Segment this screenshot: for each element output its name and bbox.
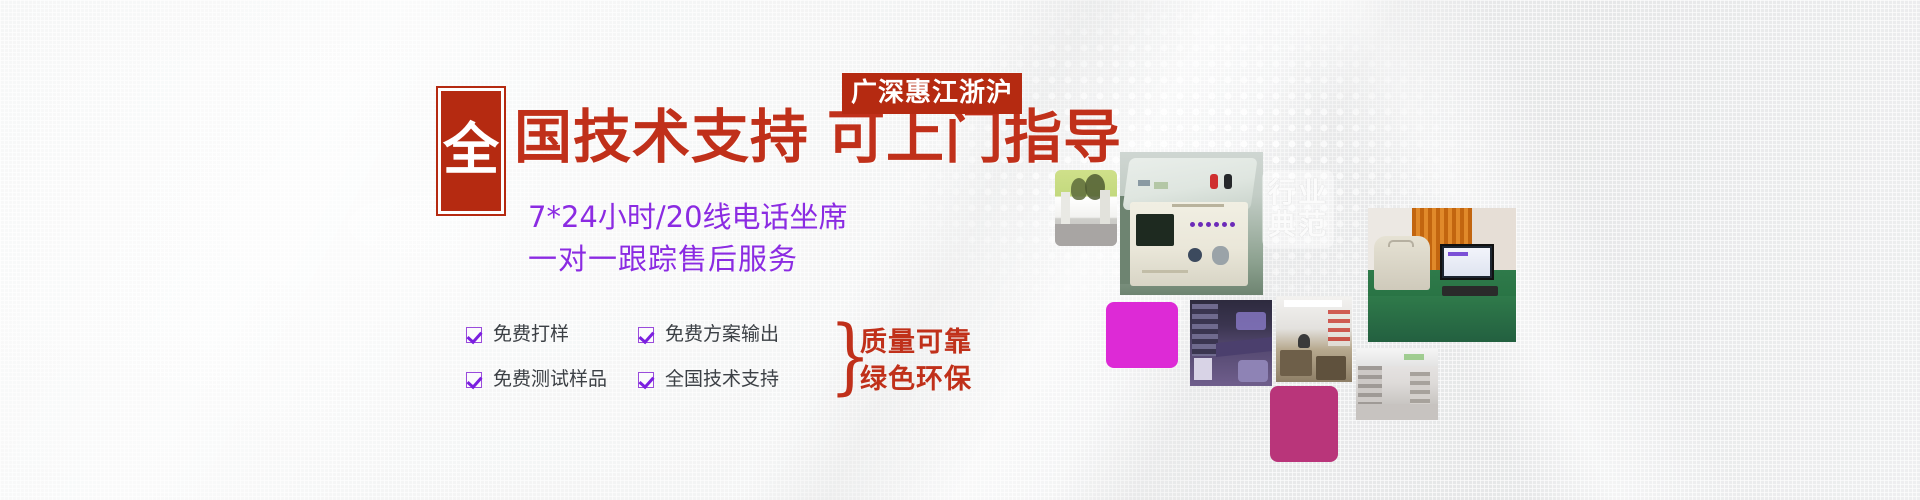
slogan-line-2: 绿色环保 <box>860 361 972 398</box>
feature-item-3-label: 免费测试样品 <box>493 370 607 389</box>
headline-text: 国技术支持可上门指导 <box>514 108 1122 166</box>
feature-item-2: 免费方案输出 <box>638 325 818 344</box>
feature-item-2-label: 免费方案输出 <box>665 325 779 344</box>
feature-item-4-label: 全国技术支持 <box>665 370 779 389</box>
office-interior-photo <box>1276 296 1352 382</box>
feature-item-1: 免费打样 <box>466 325 638 344</box>
test-instrument-photo <box>1120 152 1263 295</box>
checkmark-icon <box>638 372 654 388</box>
slogan-line-1: 质量可靠 <box>860 324 972 361</box>
region-tag-badge: 广深惠江浙沪 <box>842 73 1022 114</box>
watermark-line-2: 典范 <box>1268 209 1328 241</box>
feature-item-3: 免费测试样品 <box>466 370 638 389</box>
headline-badge-box: 全 <box>438 88 504 214</box>
industry-model-watermark: 行业 典范 <box>1262 170 1334 248</box>
feature-checklist: 免费打样 免费方案输出 免费测试样品 全国技术支持 <box>466 325 818 389</box>
subtitle-line-1: 7*24小时/20线电话坐席 <box>528 196 848 238</box>
magenta-block-1 <box>1106 302 1178 368</box>
headline-badge-char: 全 <box>443 123 499 179</box>
watermark-line-1: 行业 <box>1268 177 1328 209</box>
slogan-block: 质量可靠 绿色环保 <box>860 324 972 398</box>
checkmark-icon <box>466 327 482 343</box>
subtitle-line-2: 一对一跟踪售后服务 <box>528 238 848 280</box>
headline-text-part1: 国技术支持 <box>514 103 809 171</box>
checkmark-icon <box>466 372 482 388</box>
magenta-block-2 <box>1270 386 1338 462</box>
laboratory-bench-photo <box>1190 300 1272 386</box>
xrf-analyzer-photo <box>1368 208 1516 342</box>
feature-item-4: 全国技术支持 <box>638 370 818 389</box>
subtitle-block: 7*24小时/20线电话坐席 一对一跟踪售后服务 <box>528 196 848 280</box>
warehouse-corridor-photo <box>1356 348 1438 420</box>
promo-banner: 全 国技术支持可上门指导 广深惠江浙沪 7*24小时/20线电话坐席 一对一跟踪… <box>0 0 1920 500</box>
feature-item-1-label: 免费打样 <box>493 325 569 344</box>
checkmark-icon <box>638 327 654 343</box>
